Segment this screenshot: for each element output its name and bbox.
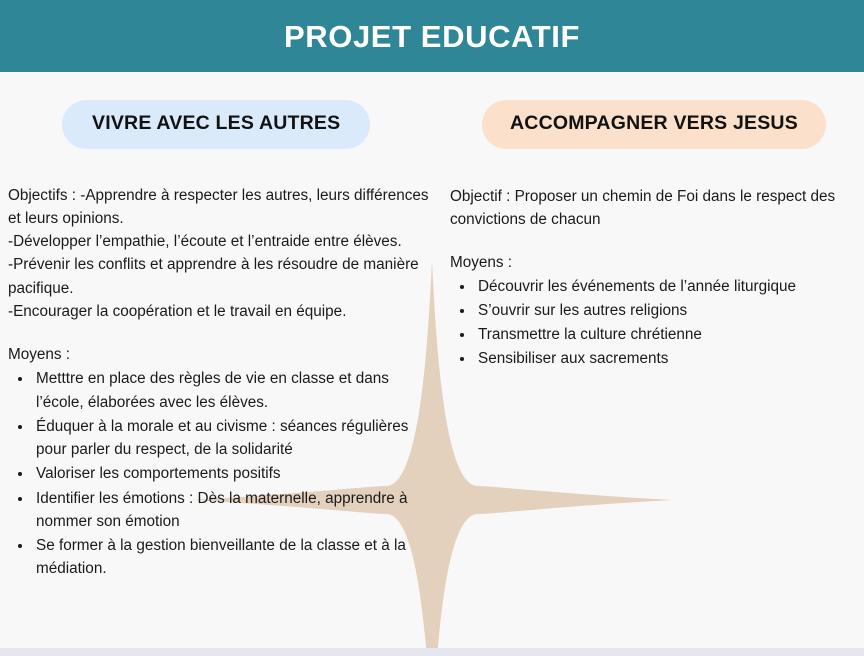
column-vivre-avec-les-autres: VIVRE AVEC LES AUTRES Objectifs : -Appre… (8, 100, 432, 582)
list-item: Se former à la gestion bienveillante de … (33, 534, 432, 581)
left-objective-line: -Développer l’empathie, l’écoute et l’en… (8, 230, 432, 253)
left-objective-line: -Prévenir les conflits et apprendre à le… (8, 253, 432, 300)
list-item: Identifier les émotions : Dès la materne… (33, 487, 432, 534)
header-banner: PROJET EDUCATIF (0, 0, 864, 72)
list-item: Metttre en place des règles de vie en cl… (33, 367, 432, 414)
column-accompagner-vers-jesus: ACCOMPAGNER VERS JESUS Objectif : Propos… (450, 100, 856, 370)
list-item: Découvrir les événements de l’année litu… (475, 275, 856, 298)
spacer (450, 231, 856, 251)
right-means-label: Moyens : (450, 251, 856, 274)
right-column-body: Objectif : Proposer un chemin de Foi dan… (450, 185, 856, 370)
list-item: S’ouvrir sur les autres religions (475, 299, 856, 322)
list-item: Valoriser les comportements positifs (33, 462, 432, 485)
spacer (8, 323, 432, 343)
page-title: PROJET EDUCATIF (284, 21, 580, 52)
left-means-label: Moyens : (8, 343, 432, 366)
heading-pill-left: VIVRE AVEC LES AUTRES (62, 100, 370, 149)
left-column-body: Objectifs : -Apprendre à respecter les a… (8, 184, 432, 581)
left-means-list: Metttre en place des règles de vie en cl… (8, 367, 432, 580)
bottom-strip (0, 648, 864, 656)
list-item: Éduquer à la morale et au civisme : séan… (33, 415, 432, 462)
list-item: Transmettre la culture chrétienne (475, 323, 856, 346)
left-objective-line: Objectifs : -Apprendre à respecter les a… (8, 184, 432, 231)
slide-canvas: PROJET EDUCATIF VIVRE AVEC LES AUTRES Ob… (0, 0, 864, 656)
left-objective-line: -Encourager la coopération et le travail… (8, 300, 432, 323)
right-objective-line: Objectif : Proposer un chemin de Foi dan… (450, 185, 856, 232)
heading-pill-right: ACCOMPAGNER VERS JESUS (482, 100, 826, 149)
right-means-list: Découvrir les événements de l’année litu… (450, 275, 856, 370)
list-item: Sensibiliser aux sacrements (475, 347, 856, 370)
